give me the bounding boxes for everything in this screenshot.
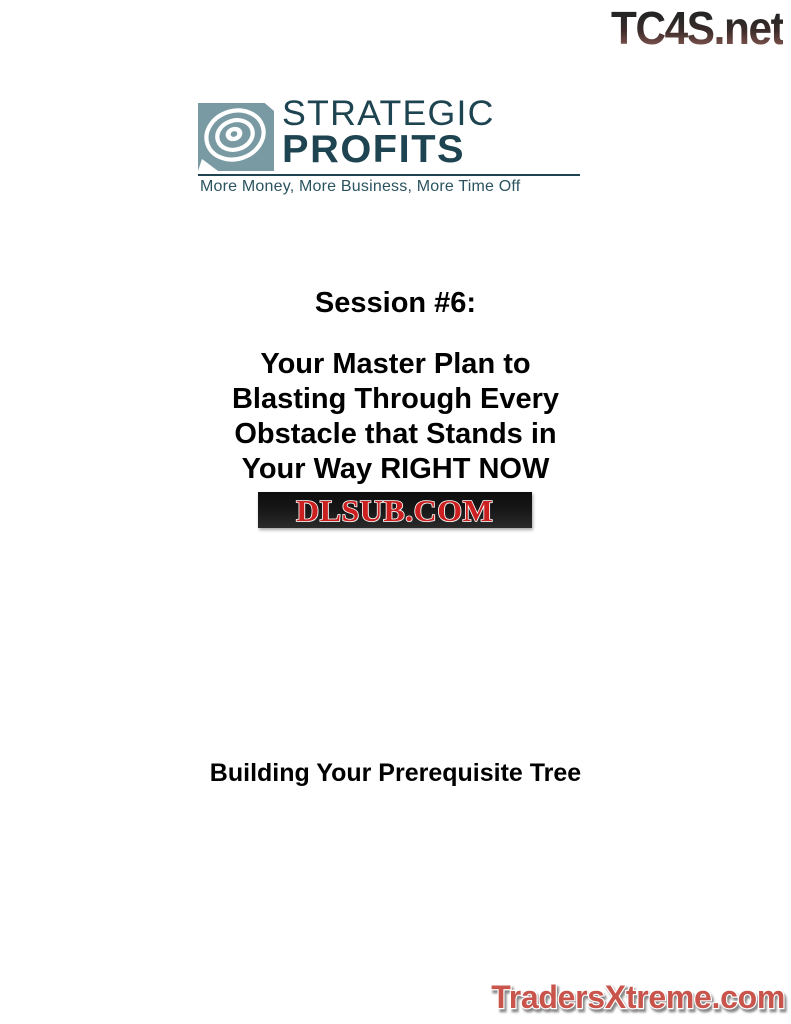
document-page: TC4S.net STRATEGIC bbox=[0, 0, 791, 1024]
logo-divider-rule bbox=[198, 174, 580, 176]
watermark-tc4s-net: TC4S.net bbox=[611, 2, 783, 54]
watermark-dlsub-com: DLSUB.COM bbox=[296, 494, 493, 527]
page-title-line-3: Obstacle that Stands in bbox=[0, 417, 791, 452]
page-title-line-1: Your Master Plan to bbox=[0, 347, 791, 382]
logo-word-strategic: STRATEGIC bbox=[282, 95, 586, 132]
watermark-tradersxtreme-com: TradersXtreme.com bbox=[491, 978, 785, 1016]
page-title-line-4: Your Way RIGHT NOW bbox=[0, 452, 791, 487]
logo-wordmark: STRATEGIC PROFITS bbox=[282, 95, 580, 170]
page-title: Your Master Plan to Blasting Through Eve… bbox=[0, 347, 791, 487]
watermark-dlsub-band: DLSUB.COM bbox=[258, 492, 532, 528]
logo-row: STRATEGIC PROFITS bbox=[198, 95, 580, 173]
strategic-profits-logo: STRATEGIC PROFITS More Money, More Busin… bbox=[198, 95, 580, 192]
subtitle: Building Your Prerequisite Tree bbox=[0, 758, 791, 788]
logo-tagline: More Money, More Business, More Time Off bbox=[200, 177, 520, 196]
page-title-line-2: Blasting Through Every bbox=[0, 382, 791, 417]
concentric-rings-target-mark-icon bbox=[198, 99, 274, 171]
logo-word-profits: PROFITS bbox=[282, 130, 586, 170]
session-label: Session #6: bbox=[0, 286, 791, 320]
